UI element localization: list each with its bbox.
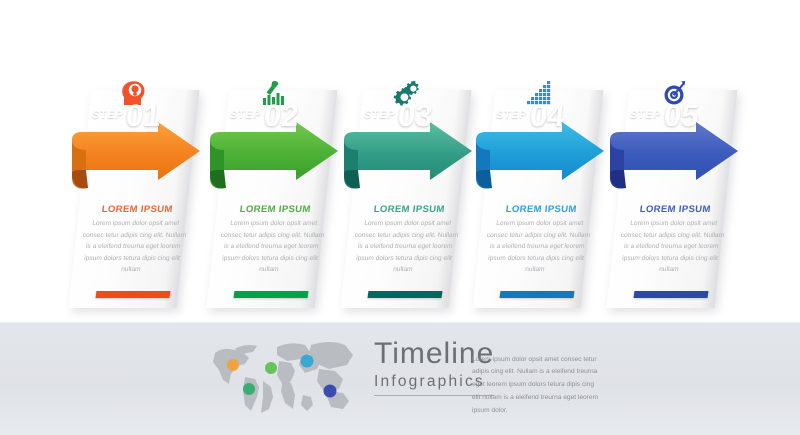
step-ribbon-arrow xyxy=(600,120,748,198)
target-arrow-icon xyxy=(656,78,690,108)
step-ribbon-arrow xyxy=(62,120,210,198)
bar-chart-squares-icon xyxy=(522,78,556,108)
infographic-canvas: STEP 01 LOREM IPSUM Lorem ipsum dolor op… xyxy=(0,0,800,434)
step-heading: LOREM IPSUM xyxy=(623,204,728,215)
step-heading: LOREM IPSUM xyxy=(489,204,594,215)
step-ribbon-arrow xyxy=(466,120,614,198)
footer-bar: Timeline Infographics Lorem ipsum dolor … xyxy=(0,322,800,435)
step-body-text: Lorem ipsum dolor opsit amet consec tetu… xyxy=(482,218,592,276)
step-accent-bar xyxy=(96,291,171,298)
step-accent-bar xyxy=(234,291,309,298)
step-accent-bar xyxy=(634,291,709,298)
step-card-05[interactable]: STEP 05 LOREM IPSUM Lorem ipsum dolor op… xyxy=(604,78,742,310)
step-body-text: Lorem ipsum dolor opsit amet consec tetu… xyxy=(78,218,188,276)
step-card-02[interactable]: STEP 02 LOREM IPSUM Lorem ipsum dolor op… xyxy=(204,78,342,310)
hand-growth-chart-icon xyxy=(256,78,290,108)
step-text-block: LOREM IPSUM Lorem ipsum dolor opsit amet… xyxy=(350,204,462,276)
step-ribbon-arrow xyxy=(334,120,482,198)
step-body-text: Lorem ipsum dolor opsit amet consec tetu… xyxy=(616,218,726,276)
step-text-block: LOREM IPSUM Lorem ipsum dolor opsit amet… xyxy=(78,204,190,276)
step-heading: LOREM IPSUM xyxy=(357,204,462,215)
step-accent-bar xyxy=(500,291,575,298)
step-text-block: LOREM IPSUM Lorem ipsum dolor opsit amet… xyxy=(482,204,594,276)
world-map-icon xyxy=(205,335,365,421)
step-card-01[interactable]: STEP 01 LOREM IPSUM Lorem ipsum dolor op… xyxy=(66,78,204,310)
step-card-04[interactable]: STEP 04 LOREM IPSUM Lorem ipsum dolor op… xyxy=(470,78,608,310)
step-body-text: Lorem ipsum dolor opsit amet consec tetu… xyxy=(350,218,460,276)
gears-icon xyxy=(390,78,424,108)
step-accent-bar xyxy=(368,291,443,298)
step-heading: LOREM IPSUM xyxy=(85,204,190,215)
head-lightbulb-icon xyxy=(118,78,152,108)
step-heading: LOREM IPSUM xyxy=(223,204,328,215)
step-card-03[interactable]: STEP 03 LOREM IPSUM Lorem ipsum dolor op… xyxy=(338,78,476,310)
footer-paragraph: Lorem ipsum dolor opsit amet consec tetu… xyxy=(472,354,602,418)
step-text-block: LOREM IPSUM Lorem ipsum dolor opsit amet… xyxy=(216,204,328,276)
step-body-text: Lorem ipsum dolor opsit amet consec tetu… xyxy=(216,218,326,276)
steps-stage: STEP 01 LOREM IPSUM Lorem ipsum dolor op… xyxy=(0,0,800,322)
step-text-block: LOREM IPSUM Lorem ipsum dolor opsit amet… xyxy=(616,204,728,276)
step-ribbon-arrow xyxy=(200,120,348,198)
